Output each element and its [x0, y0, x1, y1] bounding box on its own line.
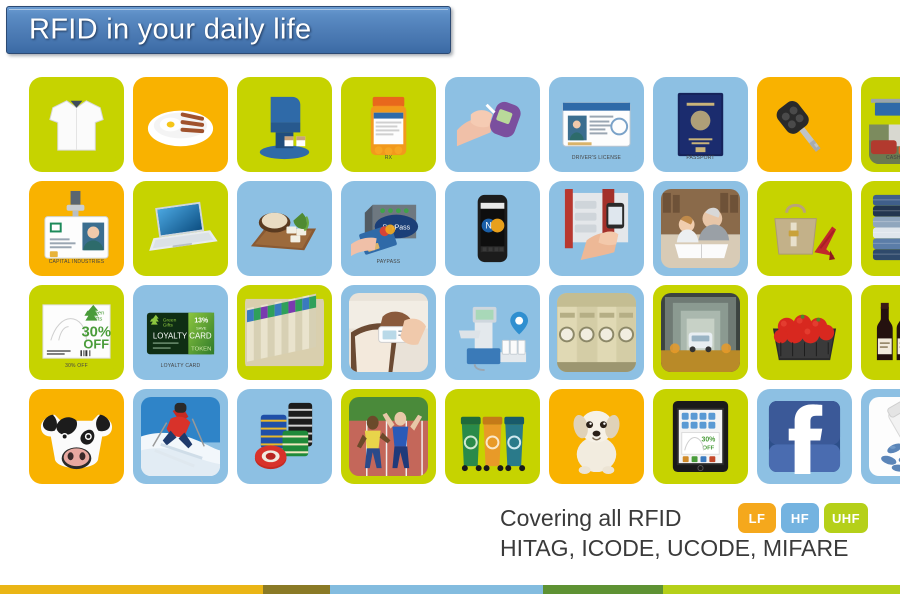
facebook-logo-image	[765, 397, 844, 476]
grid-tile-glucose-meter[interactable]	[445, 77, 540, 172]
tomato-crate-image	[765, 293, 844, 372]
grid-tile-coffee-machine[interactable]	[237, 77, 332, 172]
laptop-computer-image	[141, 189, 220, 268]
passport-image: PASSPORT	[661, 85, 740, 164]
svg-text:Gifts: Gifts	[90, 317, 102, 323]
grid-tile-employee-id-badge[interactable]: CAPITAL INDUSTRIES	[29, 181, 124, 276]
pill-bottle-capsules-image	[869, 397, 900, 476]
restaurant-meal-tray-image	[245, 189, 324, 268]
wine-bottles-image	[869, 293, 900, 372]
svg-text:OFF: OFF	[83, 336, 109, 351]
lab-sample-device-image	[453, 293, 532, 372]
grid-tile-lab-sample-device[interactable]	[445, 285, 540, 380]
glucose-meter-image	[453, 85, 532, 164]
grid-tile-marathon-runners[interactable]	[341, 389, 436, 484]
stripe-segment-5	[663, 585, 900, 594]
grid-tile-skier[interactable]	[133, 389, 228, 484]
svg-text:13%: 13%	[194, 318, 208, 325]
stripe-segment-4	[543, 585, 663, 594]
dairy-cow-image	[37, 397, 116, 476]
marathon-runners-image	[349, 397, 428, 476]
grid-tile-tomato-crate[interactable]	[757, 285, 852, 380]
laundromat-washers-image	[557, 293, 636, 372]
white-dress-shirt-image	[37, 85, 116, 164]
grid-tile-discount-coupon[interactable]: GreenGifts30%OFF30% OFF	[29, 285, 124, 380]
grid-tile-facebook-logo[interactable]	[757, 389, 852, 484]
page-title: RFID in your daily life	[29, 14, 312, 47]
grid-tile-contactless-phone-reader[interactable]	[549, 181, 644, 276]
svg-text:SAVE: SAVE	[196, 326, 207, 331]
frequency-badge-group: LFHFUHF	[738, 503, 868, 533]
grid-tile-recycling-bins[interactable]	[445, 389, 540, 484]
stacked-jeans-image	[869, 189, 900, 268]
svg-text:LOYALTY CARD: LOYALTY CARD	[153, 331, 212, 340]
breakfast-plate-image	[141, 85, 220, 164]
grid-tile-handbag-and-heel[interactable]	[757, 181, 852, 276]
car-wash-tunnel-image	[661, 293, 740, 372]
grid-tile-laptop-computer[interactable]	[133, 181, 228, 276]
stripe-segment-3	[330, 585, 543, 594]
grid-tile-library-reading[interactable]	[653, 181, 748, 276]
grid-tile-wine-bottles[interactable]	[861, 285, 900, 380]
discount-coupon-image: GreenGifts30%OFF30% OFF	[37, 293, 116, 372]
casino-chips-image	[245, 397, 324, 476]
frequency-badge-uhf[interactable]: UHF	[824, 503, 868, 533]
grid-tile-white-dress-shirt[interactable]	[29, 77, 124, 172]
loyalty-card-image: GreenGiftsLOYALTY CARD13%SAVETOKENLOYALT…	[141, 293, 220, 372]
grid-tile-casino-chips[interactable]	[237, 389, 332, 484]
caption-line-2: HITAG, ICODE, UCODE, MIFARE	[500, 533, 860, 563]
tablet-device-image: 30%OFF	[661, 397, 740, 476]
grid-tile-car-wash-tunnel[interactable]	[653, 285, 748, 380]
grid-tile-restaurant-meal-tray[interactable]	[237, 181, 332, 276]
grid-tile-breakfast-plate[interactable]	[133, 77, 228, 172]
grid-tile-patient-wristband[interactable]	[341, 285, 436, 380]
rfid-application-grid: RXDRIVER'S LICENSEPASSPORTCASH OR E-PASS…	[29, 77, 900, 484]
grid-tile-archive-file-folders[interactable]	[237, 285, 332, 380]
car-key-fob-image	[765, 85, 844, 164]
grid-tile-pill-bottle-capsules[interactable]	[861, 389, 900, 484]
svg-text:Gifts: Gifts	[163, 323, 174, 329]
pill-bottle-orange-image: RX	[349, 85, 428, 164]
drivers-license-image: DRIVER'S LICENSE	[557, 85, 636, 164]
svg-text:TOKEN: TOKEN	[191, 346, 211, 352]
grid-tile-drivers-license[interactable]: DRIVER'S LICENSE	[549, 77, 644, 172]
frequency-badge-lf[interactable]: LF	[738, 503, 776, 533]
frequency-badge-hf[interactable]: HF	[781, 503, 819, 533]
grid-tile-dairy-cow[interactable]	[29, 389, 124, 484]
employee-id-badge-image: CAPITAL INDUSTRIES	[37, 189, 116, 268]
stripe-segment-1	[0, 585, 263, 594]
grid-tile-laundromat-washers[interactable]	[549, 285, 644, 380]
grid-tile-loyalty-card[interactable]: GreenGiftsLOYALTY CARD13%SAVETOKENLOYALT…	[133, 285, 228, 380]
library-reading-image	[661, 189, 740, 268]
patient-wristband-image	[349, 293, 428, 372]
grid-tile-paypass-card-terminal[interactable]: PayPassPAYPASS	[341, 181, 436, 276]
contactless-phone-reader-image	[557, 189, 636, 268]
grid-tile-pill-bottle-orange[interactable]: RX	[341, 77, 436, 172]
grid-tile-car-key-fob[interactable]	[757, 77, 852, 172]
stripe-segment-2	[263, 585, 330, 594]
svg-text:30%: 30%	[701, 436, 715, 443]
grid-tile-stacked-jeans[interactable]	[861, 181, 900, 276]
coffee-machine-image	[245, 85, 324, 164]
title-banner: RFID in your daily life	[6, 6, 451, 54]
puppy-image	[557, 397, 636, 476]
grid-tile-toll-booth-epass[interactable]: CASH OR E-PASS	[861, 77, 900, 172]
nfc-smartphone-image: N	[453, 189, 532, 268]
handbag-and-heel-image	[765, 189, 844, 268]
grid-tile-puppy[interactable]	[549, 389, 644, 484]
svg-text:OFF: OFF	[702, 445, 714, 451]
skier-image	[141, 397, 220, 476]
grid-tile-tablet-device[interactable]: 30%OFF	[653, 389, 748, 484]
toll-booth-epass-image: CASH OR E-PASS	[869, 85, 900, 164]
bottom-color-stripe	[0, 585, 900, 594]
grid-tile-nfc-smartphone[interactable]: N	[445, 181, 540, 276]
recycling-bins-image	[453, 397, 532, 476]
svg-text:N: N	[485, 221, 491, 231]
paypass-card-terminal-image: PayPassPAYPASS	[349, 189, 428, 268]
archive-file-folders-image	[245, 293, 324, 372]
grid-tile-passport[interactable]: PASSPORT	[653, 77, 748, 172]
